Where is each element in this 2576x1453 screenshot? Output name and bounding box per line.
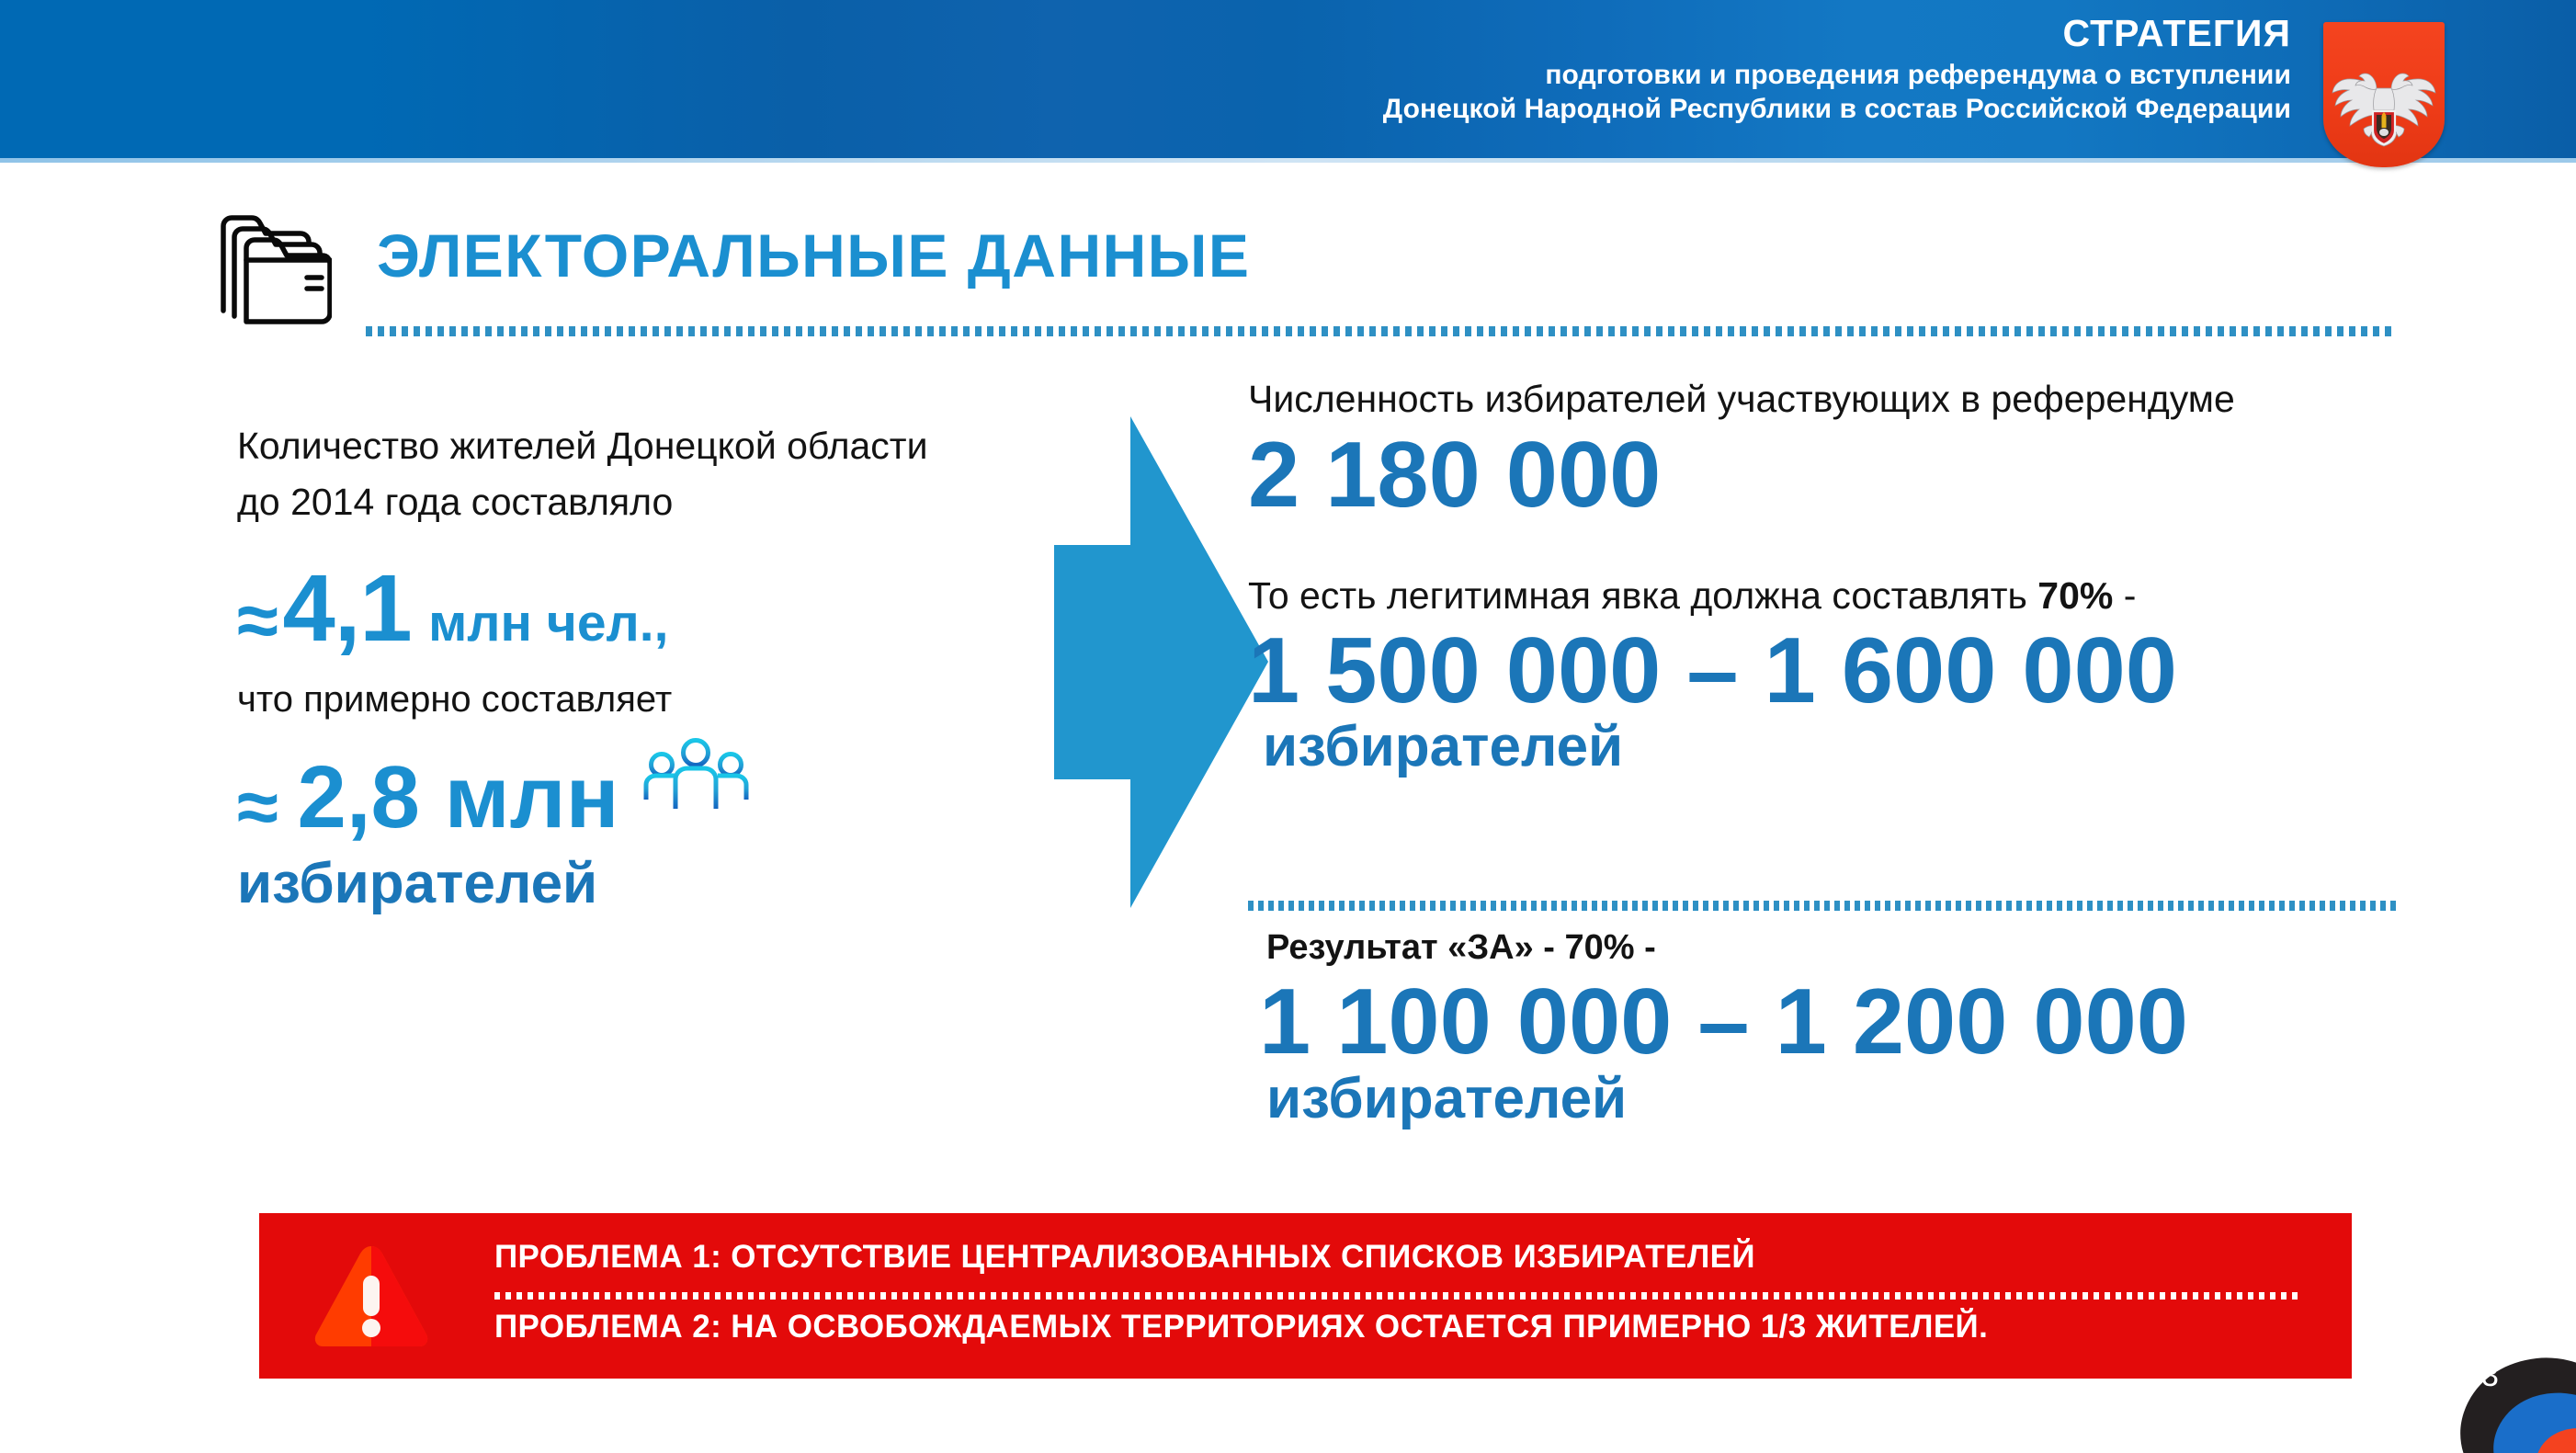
population-value: 4,1 (282, 555, 411, 661)
warning-banner-text: ПРОБЛЕМА 1: ОТСУТСТВИЕ ЦЕНТРАЛИЗОВАННЫХ … (494, 1233, 2296, 1345)
referendum-voters-block: Численность избирателей участвующих в ре… (1248, 377, 2553, 526)
turnout-label-suffix: - (2113, 574, 2136, 617)
approx-symbol-1: ≈ (237, 579, 278, 663)
result-za-unit-label: избирателей (1266, 1068, 2571, 1130)
result-za-range-value: 1 100 000 – 1 200 000 (1259, 973, 2571, 1072)
slide-root: СТРАТЕГИЯ подготовки и проведения рефере… (0, 0, 2576, 1453)
population-mid-text: что примерно составляет (237, 679, 1037, 721)
header-title: СТРАТЕГИЯ (986, 11, 2291, 55)
approx-symbol-2: ≈ (237, 766, 278, 849)
turnout-unit-label: избирателей (1263, 716, 2553, 778)
page-number: 3 (2481, 1358, 2499, 1394)
population-unit: млн чел., (428, 594, 668, 653)
title-divider (366, 326, 2397, 336)
result-za-block: Результат «ЗА» - 70% - 1 100 000 – 1 200… (1266, 928, 2571, 1130)
header-underline (0, 158, 2576, 163)
problem-2-text: ПРОБЛЕМА 2: НА ОСВОБОЖДАЕМЫХ ТЕРРИТОРИЯХ… (494, 1309, 2296, 1345)
right-column: Численность избирателей участвующих в ре… (1248, 377, 2553, 778)
right-arrow-chevron-icon (1050, 412, 1279, 913)
population-lead-text: Количество жителей Донецкой области до 2… (237, 418, 936, 529)
turnout-label: То есть легитимная явка должна составлят… (1248, 573, 2553, 619)
voters-label: избирателей (237, 851, 1037, 916)
warning-triangle-icon (312, 1243, 430, 1351)
banner-divider (494, 1292, 2300, 1300)
referendum-voters-value: 2 180 000 (1248, 426, 2553, 526)
header-subtitle-line1: подготовки и проведения референдума о вс… (986, 59, 2291, 91)
page-title: ЭЛЕКТОРАЛЬНЫЕ ДАННЫЕ (377, 221, 1250, 290)
turnout-percent: 70% (2037, 574, 2113, 617)
dnr-coat-of-arms-icon (2323, 22, 2445, 167)
right-column-divider (1248, 901, 2397, 911)
header-text-block: СТРАТЕГИЯ подготовки и проведения рефере… (986, 11, 2291, 125)
folders-icon (214, 210, 332, 325)
problem-1-text: ПРОБЛЕМА 1: ОТСУТСТВИЕ ЦЕНТРАЛИЗОВАННЫХ … (494, 1239, 2296, 1276)
turnout-label-prefix: То есть легитимная явка должна составлят… (1248, 574, 2037, 617)
double-headed-eagle-icon (2331, 59, 2437, 154)
left-column: Количество жителей Донецкой области до 2… (237, 418, 1037, 916)
warning-banner: ПРОБЛЕМА 1: ОТСУТСТВИЕ ЦЕНТРАЛИЗОВАННЫХ … (259, 1213, 2352, 1379)
result-za-label: Результат «ЗА» - 70% - (1266, 928, 2571, 968)
turnout-block: То есть легитимная явка должна составлят… (1248, 573, 2553, 778)
voters-value: 2,8 млн (297, 748, 618, 846)
referendum-voters-label: Численность избирателей участвующих в ре… (1248, 377, 2553, 422)
page-number-badge (2424, 1331, 2576, 1453)
voters-figure-row: ≈ 2,8 млн (237, 737, 1037, 846)
people-group-icon (634, 737, 758, 840)
turnout-range-value: 1 500 000 – 1 600 000 (1248, 622, 2553, 721)
header-subtitle-line2: Донецкой Народной Республики в состав Ро… (986, 93, 2291, 125)
population-figure-row: ≈ 4,1 млн чел., (237, 561, 1037, 659)
